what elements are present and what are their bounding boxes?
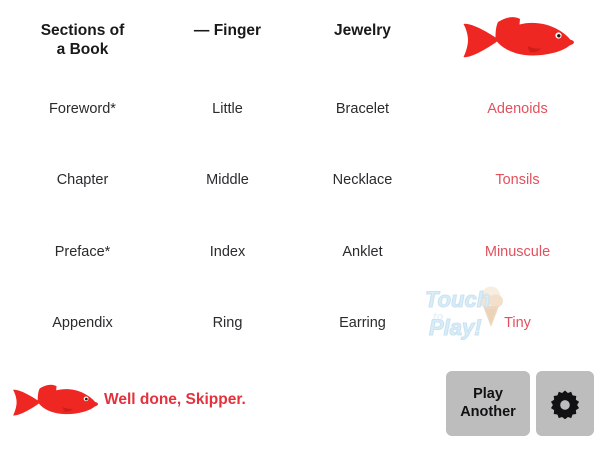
column-header-line2: a Book bbox=[41, 41, 125, 60]
cell-sections-of-a-book: Appendix bbox=[0, 289, 165, 361]
column-header-sections-of-a-book: Sections of a Book bbox=[0, 0, 165, 74]
cell-finger: Index bbox=[165, 217, 290, 289]
cell-odd-one-out: Tonsils bbox=[435, 146, 600, 218]
cell-finger: Ring bbox=[165, 289, 290, 361]
cell-finger: Middle bbox=[165, 146, 290, 218]
feedback-message: Well done, Skipper. bbox=[12, 376, 246, 424]
fish-icon bbox=[12, 382, 98, 418]
gear-icon bbox=[550, 389, 580, 419]
table-row: Chapter Middle Necklace Tonsils bbox=[0, 146, 600, 218]
cell-jewelry: Necklace bbox=[290, 146, 435, 218]
feedback-message-text: Well done, Skipper. bbox=[104, 391, 246, 409]
play-another-label-line2: Another bbox=[460, 404, 516, 420]
cell-odd-one-out: Adenoids bbox=[435, 74, 600, 146]
column-header-fish bbox=[435, 0, 600, 74]
play-another-button[interactable]: Play Another bbox=[446, 371, 530, 436]
cell-jewelry: Anklet bbox=[290, 217, 435, 289]
game-board: Sections of a Book — Finger Jewelry Fore… bbox=[0, 0, 600, 450]
cell-sections-of-a-book: Chapter bbox=[0, 146, 165, 218]
cell-jewelry: Earring bbox=[290, 289, 435, 361]
play-another-label-line1: Play bbox=[473, 386, 503, 402]
table-header-row: Sections of a Book — Finger Jewelry bbox=[0, 0, 600, 74]
column-header-jewelry: Jewelry bbox=[290, 0, 435, 74]
table-row: Preface* Index Anklet Minuscule bbox=[0, 217, 600, 289]
cell-finger: Little bbox=[165, 74, 290, 146]
table-row: Appendix Ring Earring Tiny bbox=[0, 289, 600, 361]
cell-sections-of-a-book: Preface* bbox=[0, 217, 165, 289]
column-header-line1: Sections of bbox=[41, 22, 125, 41]
cell-jewelry: Bracelet bbox=[290, 74, 435, 146]
settings-button[interactable] bbox=[536, 371, 594, 436]
fish-icon bbox=[462, 15, 574, 59]
category-grid: Sections of a Book — Finger Jewelry Fore… bbox=[0, 0, 600, 360]
column-header-finger: — Finger bbox=[165, 0, 290, 74]
cell-odd-one-out: Minuscule bbox=[435, 217, 600, 289]
cell-sections-of-a-book: Foreword* bbox=[0, 74, 165, 146]
button-bar: Play Another bbox=[446, 371, 594, 436]
table-row: Foreword* Little Bracelet Adenoids bbox=[0, 74, 600, 146]
cell-odd-one-out: Tiny bbox=[435, 289, 600, 361]
